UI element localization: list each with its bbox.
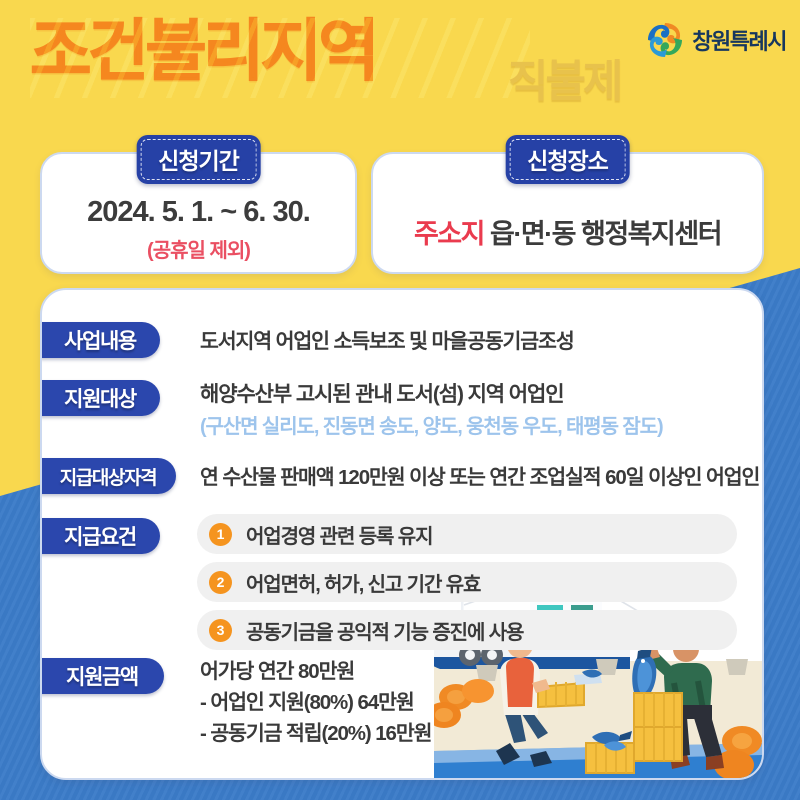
application-place-badge-label: 신청장소 (527, 148, 608, 174)
poster-canvas: 조건불리지역 직불제 창원특례시 신청기간 2024. 5. 1. ~ 6. 3… (0, 0, 800, 800)
application-period-note: (공휴일 제외) (42, 234, 355, 263)
requirement-item-2: 2 어업면허, 허가, 신고 기간 유효 (197, 562, 737, 602)
city-logo-label: 창원특례시 (692, 24, 786, 56)
application-period-value: 2024. 5. 1. ~ 6. 30. (42, 196, 355, 229)
requirement-text-1: 어업경영 관련 등록 유지 (246, 520, 432, 549)
requirement-text-3: 공동기금을 공익적 기능 증진에 사용 (246, 616, 523, 645)
program-details-card: 사업내용 도서지역 어업인 소득보조 및 마을공동기금조성 지원대상 해양수산부… (40, 288, 764, 780)
page-title: 조건불리지역 (30, 18, 376, 85)
row-tag-payment-requirements: 지급요건 (40, 518, 160, 554)
requirement-number-3: 3 (209, 619, 232, 642)
row-text-support-amount: 어가당 연간 80만원 - 어업인 지원(80%) 64만원 - 공동기금 적립… (200, 656, 431, 749)
row-subtext-island-list: (구산면 실리도, 진동면 송도, 양도, 웅천동 우도, 태평동 잠도) (200, 410, 663, 439)
requirement-text-2: 어업면허, 허가, 신고 기간 유효 (246, 568, 480, 597)
detail-rows: 사업내용 도서지역 어업인 소득보조 및 마을공동기금조성 지원대상 해양수산부… (42, 290, 762, 778)
application-place-highlight: 주소지 (414, 219, 484, 249)
row-tag-payment-eligibility: 지급대상자격 (40, 458, 176, 494)
application-place-card: 신청장소 주소지 읍·면·동 행정복지센터 (371, 152, 764, 274)
city-logo: 창원특례시 (645, 20, 786, 60)
row-text-business-content: 도서지역 어업인 소득보조 및 마을공동기금조성 (200, 324, 574, 354)
row-text-payment-eligibility: 연 수산물 판매액 120만원 이상 또는 연간 조업실적 60일 이상인 어업… (200, 460, 759, 490)
support-amount-line-1: 어가당 연간 80만원 (200, 656, 431, 687)
application-place-value: 주소지 읍·면·동 행정복지센터 (373, 212, 762, 251)
application-period-badge: 신청기간 (136, 135, 261, 184)
row-text-support-target: 해양수산부 고시된 관내 도서(섬) 지역 어업인 (200, 378, 563, 408)
row-tag-support-amount: 지원금액 (40, 658, 164, 694)
page-subtitle: 직불제 (508, 60, 620, 104)
requirement-number-2: 2 (209, 571, 232, 594)
application-place-badge: 신청장소 (505, 135, 630, 184)
requirement-item-3: 3 공동기금을 공익적 기능 증진에 사용 (197, 610, 737, 650)
requirement-number-1: 1 (209, 523, 232, 546)
support-amount-line-2: - 어업인 지원(80%) 64만원 (200, 687, 431, 718)
row-tag-support-target: 지원대상 (40, 380, 160, 416)
support-amount-line-3: - 공동기금 적립(20%) 16만원 (200, 718, 431, 749)
changwon-swirl-emblem-icon (645, 20, 685, 60)
application-period-badge-label: 신청기간 (158, 148, 239, 174)
row-tag-business-content: 사업내용 (40, 322, 160, 358)
application-place-rest: 읍·면·동 행정복지센터 (484, 219, 721, 249)
requirement-item-1: 1 어업경영 관련 등록 유지 (197, 514, 737, 554)
application-period-card: 신청기간 2024. 5. 1. ~ 6. 30. (공휴일 제외) (40, 152, 357, 274)
poster-header: 조건불리지역 직불제 창원특례시 (0, 0, 800, 128)
